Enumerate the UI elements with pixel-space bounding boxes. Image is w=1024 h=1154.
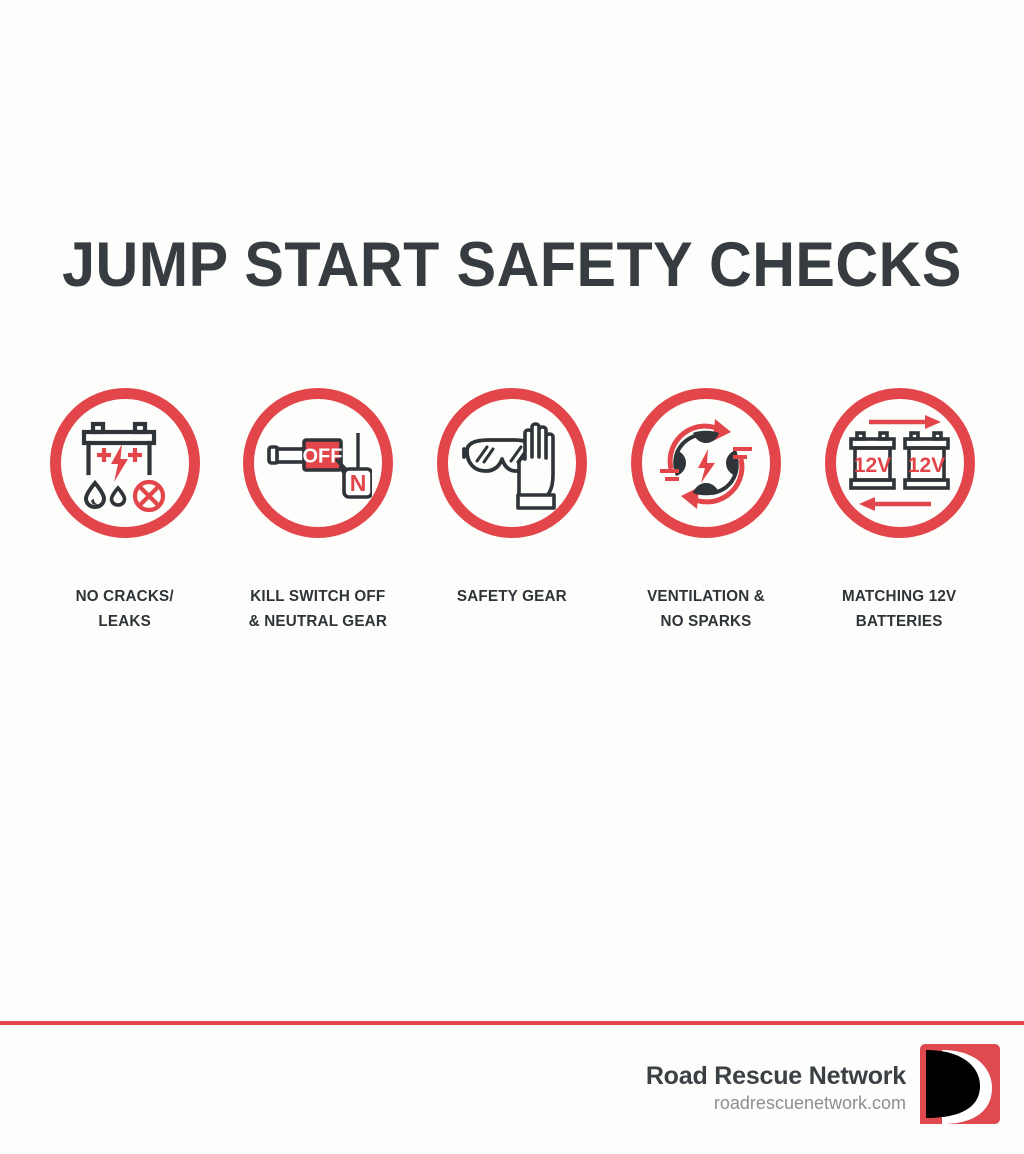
caption-no-cracks-leaks: NO CRACKS/ LEAKS xyxy=(75,584,173,634)
caption-kill-switch-neutral: KILL SWITCH OFF & NEUTRAL GEAR xyxy=(249,584,387,634)
neutral-gear-label: N xyxy=(350,470,367,496)
brand-url[interactable]: roadrescuenetwork.com xyxy=(646,1091,906,1115)
ventilation-fan-no-sparks-icon xyxy=(631,388,781,538)
check-item-ventilation-no-sparks: VENTILATION & NO SPARKS xyxy=(609,388,802,634)
caption-line-1: NO CRACKS/ xyxy=(75,584,173,609)
brand-name: Road Rescue Network xyxy=(646,1061,906,1091)
battery-right-voltage-label: 12V xyxy=(907,454,944,477)
matching-12v-batteries-icon: 12V 12V xyxy=(825,388,975,538)
check-item-no-cracks-leaks: NO CRACKS/ LEAKS xyxy=(28,388,221,634)
caption-ventilation-no-sparks: VENTILATION & NO SPARKS xyxy=(647,584,765,634)
caption-line-2: BATTERIES xyxy=(842,609,956,634)
check-item-kill-switch-neutral: OFF N KILL SWITCH OFF & NEUTRAL GEAR xyxy=(222,388,415,634)
road-rescue-network-logo xyxy=(920,1044,1000,1124)
infographic-poster: JUMP START SAFETY CHECKS xyxy=(0,0,1024,1154)
brand-text-block: Road Rescue Network roadrescuenetwork.co… xyxy=(646,1044,920,1115)
caption-safety-gear: SAFETY GEAR xyxy=(457,584,567,609)
page-title: JUMP START SAFETY CHECKS xyxy=(31,232,994,298)
kill-switch-neutral-gear-icon: OFF N xyxy=(243,388,393,538)
caption-line-2: & NEUTRAL GEAR xyxy=(249,609,387,634)
caption-matching-batteries: MATCHING 12V BATTERIES xyxy=(842,584,956,634)
caption-line-2: LEAKS xyxy=(75,609,173,634)
caption-line-1: VENTILATION & xyxy=(647,584,765,609)
kill-switch-off-label: OFF xyxy=(303,446,343,468)
battery-left-voltage-label: 12V xyxy=(853,454,890,477)
check-item-safety-gear: SAFETY GEAR xyxy=(416,388,609,609)
caption-line-1: KILL SWITCH OFF xyxy=(249,584,387,609)
footer: Road Rescue Network roadrescuenetwork.co… xyxy=(0,1044,1024,1144)
safety-goggles-glove-icon xyxy=(437,388,587,538)
caption-line-1: SAFETY GEAR xyxy=(457,584,567,609)
battery-cracks-leaks-icon xyxy=(50,388,200,538)
caption-line-2: NO SPARKS xyxy=(647,609,765,634)
footer-divider xyxy=(0,1021,1024,1025)
safety-checks-row: NO CRACKS/ LEAKS OFF N KI xyxy=(28,388,996,634)
check-item-matching-batteries: 12V 12V MATCHING 12V BATTERIES xyxy=(803,388,996,634)
caption-line-1: MATCHING 12V xyxy=(842,584,956,609)
